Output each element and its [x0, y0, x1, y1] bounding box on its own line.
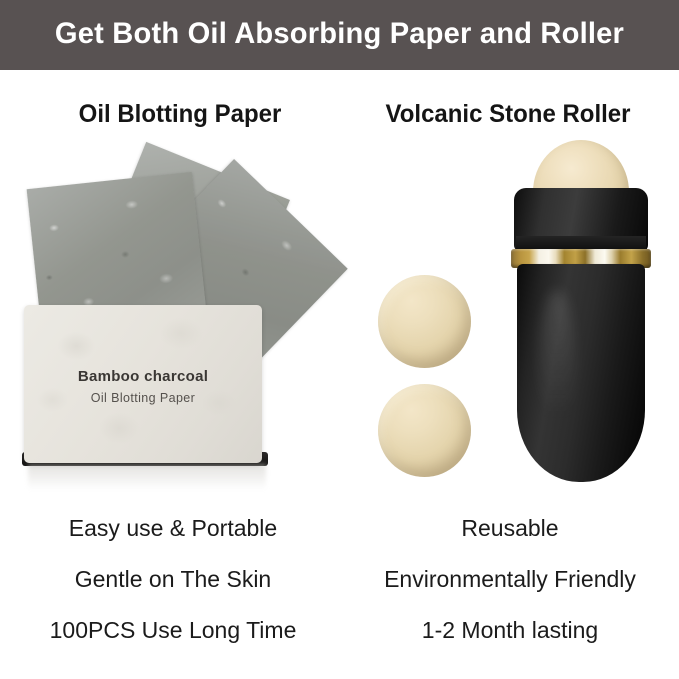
right-bullet-1: Reusable	[345, 515, 675, 542]
roller-body	[517, 264, 645, 482]
page-title: Get Both Oil Absorbing Paper and Roller	[10, 17, 669, 51]
paper-box-reflection	[28, 464, 266, 490]
box-label-brand: Bamboo charcoal	[24, 368, 262, 385]
left-bullet-3: 100PCS Use Long Time	[8, 617, 338, 644]
product-infographic: Get Both Oil Absorbing Paper and Roller …	[0, 0, 679, 679]
section-heading-oil-blotting-paper: Oil Blotting Paper	[26, 100, 333, 129]
roller-body-highlight	[539, 290, 575, 440]
bamboo-charcoal-paper-box: Bamboo charcoal Oil Blotting Paper	[24, 305, 262, 463]
right-bullet-2: Environmentally Friendly	[345, 566, 675, 593]
volcanic-stone-ball-bottom	[378, 384, 471, 477]
right-bullet-3: 1-2 Month lasting	[345, 617, 675, 644]
volcanic-stone-ball-top	[378, 275, 471, 368]
section-heading-volcanic-stone-roller: Volcanic Stone Roller	[354, 100, 661, 129]
box-label-product: Oil Blotting Paper	[24, 391, 262, 405]
oil-blotting-paper-product-image: Bamboo charcoal Oil Blotting Paper	[0, 150, 345, 490]
left-bullet-1: Easy use & Portable	[8, 515, 338, 542]
left-bullet-2: Gentle on The Skin	[8, 566, 338, 593]
volcanic-stone-roller-product-image	[505, 140, 657, 485]
